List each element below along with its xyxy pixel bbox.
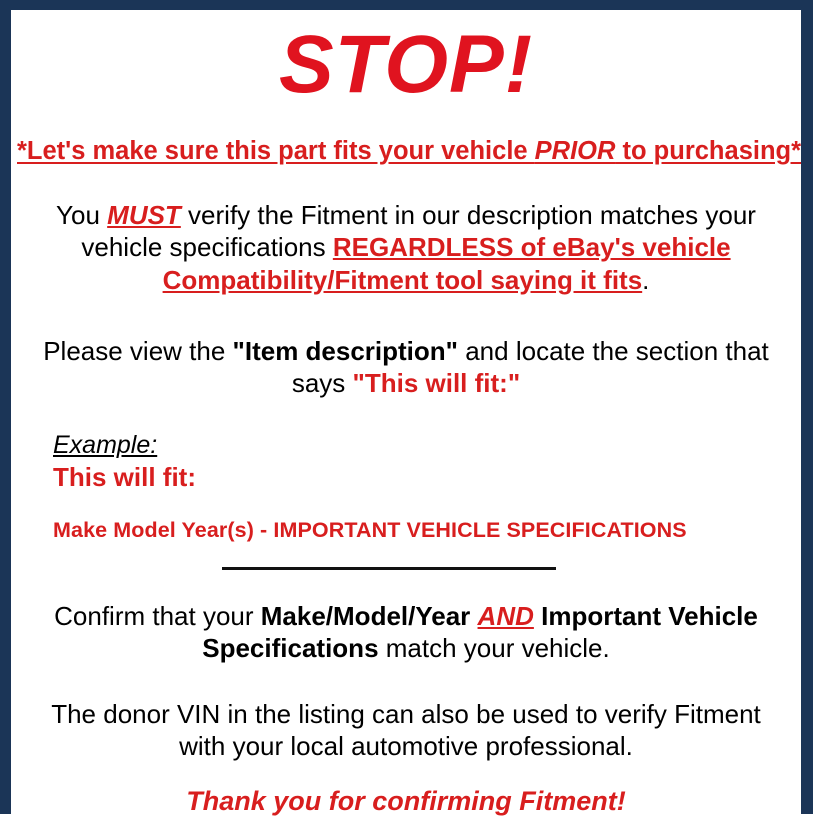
make-model-year-emphasis: Make/Model/Year bbox=[261, 601, 471, 631]
example-fit-header: This will fit: bbox=[53, 462, 795, 493]
confirm-seg-4: match your vehicle. bbox=[379, 633, 610, 663]
confirm-paragraph: Confirm that your Make/Model/Year AND Im… bbox=[17, 600, 795, 664]
subheadline-after: to purchasing* bbox=[615, 137, 801, 165]
stop-headline: STOP! bbox=[17, 24, 795, 106]
example-block: Example: This will fit: Make Model Year(… bbox=[17, 431, 795, 543]
this-will-fit-emphasis: "This will fit:" bbox=[353, 368, 521, 398]
subheadline-before: *Let's make sure this part fits your veh… bbox=[17, 137, 535, 165]
divider-wrap bbox=[17, 566, 795, 570]
and-emphasis: AND bbox=[478, 601, 534, 631]
fitment-notice-card: STOP! *Let's make sure this part fits yo… bbox=[0, 0, 813, 814]
example-label-row: Example: bbox=[53, 431, 795, 461]
subheadline: *Let's make sure this part fits your veh… bbox=[17, 137, 795, 165]
view-seg-1: Please view the bbox=[43, 336, 232, 366]
item-description-emphasis: "Item description" bbox=[233, 336, 458, 366]
view-description-paragraph: Please view the "Item description" and l… bbox=[17, 335, 795, 399]
donor-vin-paragraph: The donor VIN in the listing can also be… bbox=[17, 698, 795, 762]
must-seg-3: . bbox=[642, 265, 649, 295]
must-verify-paragraph: You MUST verify the Fitment in our descr… bbox=[17, 199, 795, 296]
must-emphasis: MUST bbox=[107, 200, 181, 230]
confirm-seg-2 bbox=[470, 601, 477, 631]
example-label: Example: bbox=[53, 431, 157, 461]
confirm-seg-1: Confirm that your bbox=[54, 601, 261, 631]
horizontal-rule bbox=[222, 567, 556, 570]
must-seg-1: You bbox=[56, 200, 107, 230]
example-spec-line: Make Model Year(s) - IMPORTANT VEHICLE S… bbox=[53, 518, 795, 544]
thank-you-line: Thank you for confirming Fitment! bbox=[17, 785, 795, 817]
notice-content: STOP! *Let's make sure this part fits yo… bbox=[11, 24, 801, 814]
subheadline-emphasis-prior: PRIOR bbox=[535, 137, 616, 165]
